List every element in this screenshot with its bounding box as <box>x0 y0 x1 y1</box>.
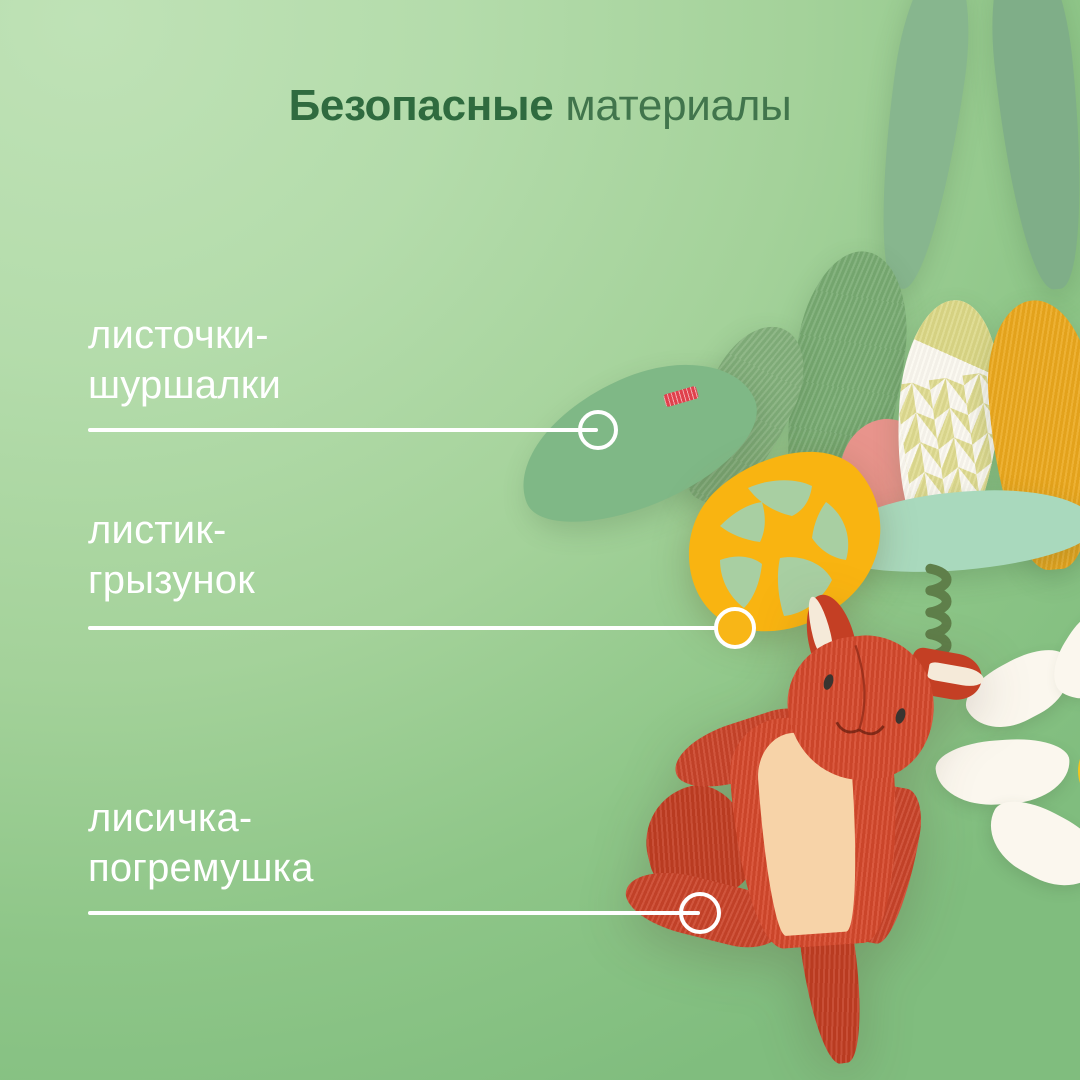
fox-ear-left <box>798 590 860 671</box>
small-dotted-leaf-shape <box>663 311 824 519</box>
callout-marker-1 <box>578 410 618 450</box>
fox-body <box>726 711 906 952</box>
fox-ear-right <box>907 646 986 704</box>
fox-ear-right-inner <box>927 661 985 688</box>
page-title: Безопасные материалы <box>0 80 1080 132</box>
green-coil-spring <box>916 560 962 680</box>
fox-arm-right <box>843 782 928 948</box>
white-daisy-flower <box>950 630 1080 930</box>
callout-label-3-line2: погремушка <box>88 843 314 893</box>
mint-plush-leaf-shape <box>823 480 1080 581</box>
callout-leader-line-2 <box>88 626 735 630</box>
fox-leg-right <box>795 903 870 1067</box>
callout-leader-line-3 <box>88 911 700 915</box>
daisy-petal <box>1041 598 1080 713</box>
callout-label-1-line1: листочки- <box>88 310 281 360</box>
page-title-bold: Безопасные <box>289 81 554 130</box>
callout-listochki-shurshalki: листочки- шуршалки <box>88 310 281 410</box>
yellow-dash-leaf-shape <box>980 296 1080 574</box>
callout-label-3-line1: лисичка- <box>88 793 314 843</box>
red-fabric-tag <box>663 386 699 408</box>
tall-sage-leaf-left-shape <box>865 0 980 293</box>
large-dotted-leaf-shape <box>768 243 920 546</box>
fox-tail <box>634 775 762 909</box>
silicone-teether-leaf <box>660 440 900 655</box>
callout-listik-gryzunok: листик- грызунок <box>88 505 255 605</box>
fox-eye-right <box>894 707 908 725</box>
fox-belly-patch <box>755 729 863 937</box>
coral-accent-leaf-shape <box>823 408 939 547</box>
callout-marker-2 <box>714 607 756 649</box>
tall-sage-leaf-right-shape <box>982 0 1080 293</box>
fox-eye-left <box>822 673 836 691</box>
daisy-petal <box>956 637 1080 743</box>
callout-lisichka-pogremushka: лисичка- погремушка <box>88 793 314 893</box>
callout-leader-line-1 <box>88 428 598 432</box>
product-infographic-canvas: Безопасные материалы листочки- шуршалки … <box>0 0 1080 1080</box>
callout-label-2-line1: листик- <box>88 505 255 555</box>
fox-head <box>781 629 941 787</box>
daisy-petal <box>934 735 1072 808</box>
triangle-pattern-leaf-shape <box>889 297 1006 553</box>
callout-label-1-line2: шуршалки <box>88 360 281 410</box>
callout-marker-3 <box>679 892 721 934</box>
plush-green-leaf-shape <box>497 336 777 548</box>
page-title-regular: материалы <box>553 81 791 130</box>
fox-arm-left <box>667 698 829 800</box>
daisy-petal <box>976 788 1080 903</box>
fox-ear-left-inner <box>803 595 834 654</box>
fox-rattle <box>610 590 1040 1070</box>
callout-label-2-line2: грызунок <box>88 555 255 605</box>
